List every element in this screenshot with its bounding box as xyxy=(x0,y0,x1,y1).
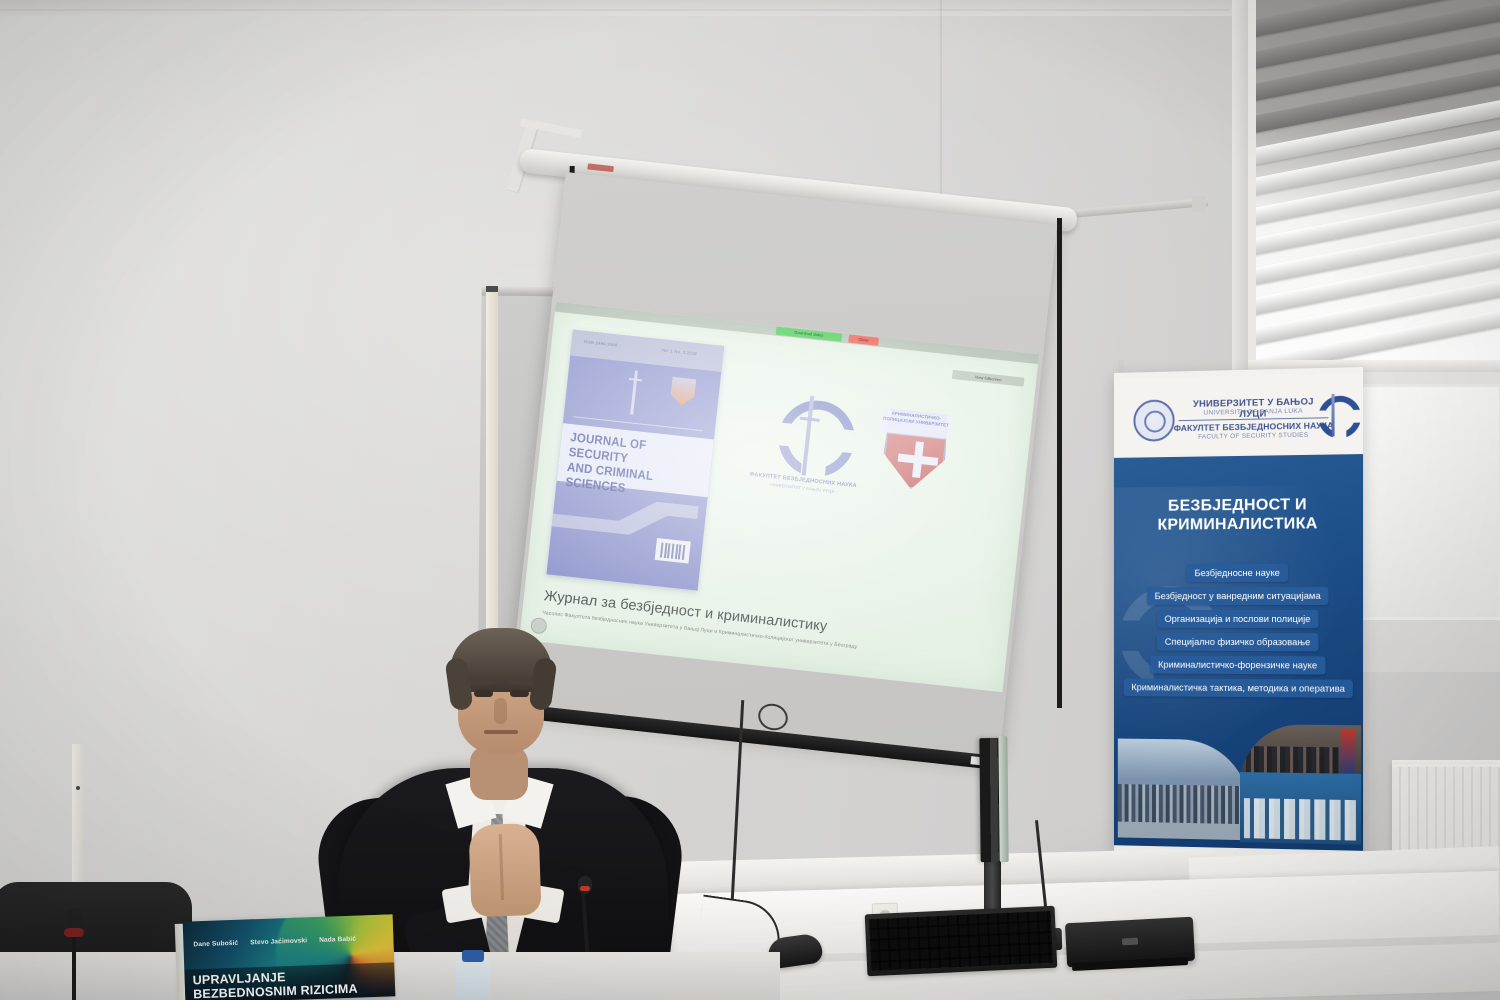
screen-bracket-right-end xyxy=(1192,196,1206,212)
whiteboard-post-cap xyxy=(486,286,498,292)
banner-photo-training xyxy=(1240,772,1361,845)
monitor-front-edge xyxy=(998,736,1008,862)
banner-faculty-logo-icon xyxy=(1314,393,1359,438)
displayed-book[interactable]: Dane Subošić Stevo Jaćimovski Nada Babić… xyxy=(183,914,396,1000)
wall-seam-horizontal xyxy=(0,9,1230,11)
book-title: UPRAVLJANJE BEZBEDNOSNIM RIZICIMA xyxy=(192,966,393,1000)
eye-left xyxy=(474,690,493,697)
window-frame-left xyxy=(1248,0,1256,372)
water-bottle[interactable] xyxy=(456,956,490,1000)
banner-program-item: Организација и послови полиције xyxy=(1157,610,1319,628)
wall-corner-post xyxy=(1232,0,1248,400)
neck xyxy=(470,746,528,800)
microphone-indicator-light xyxy=(580,886,590,891)
photo-scene: Download slides Close View fullscreen IS… xyxy=(0,0,1500,1000)
nose xyxy=(494,698,507,724)
banner-program-item: Криминалистичка тактика, методика и опер… xyxy=(1124,678,1354,698)
banner-program-item: Безбједност у ванредним ситуацијама xyxy=(1147,587,1329,605)
banner-program-item: Криминалистичко-форензичке науке xyxy=(1150,656,1325,675)
book-author: Dane Subošić xyxy=(193,940,238,949)
banner-photo-students xyxy=(1118,739,1250,841)
mouth xyxy=(484,730,518,734)
book-author: Nada Babić xyxy=(319,936,356,944)
microphone-front-base xyxy=(64,928,84,937)
keyboard[interactable] xyxy=(865,906,1058,977)
banner-body: БЕЗБЈЕДНОСТ И КРИМИНАЛИСТИКА Безбједносн… xyxy=(1114,454,1363,863)
whiteboard-post xyxy=(486,288,498,640)
housing-brand-label xyxy=(587,163,613,172)
screen-rail-right xyxy=(1057,218,1062,708)
wall-mounted-strip xyxy=(72,744,84,886)
university-seal-icon xyxy=(1133,399,1174,441)
banner-program-item: Безбједносне науке xyxy=(1187,564,1288,582)
clasped-hands xyxy=(468,823,541,917)
bottle-cap xyxy=(462,950,484,962)
banner-photo-collage xyxy=(1114,719,1363,863)
book-cover: Dane Subošić Stevo Jaćimovski Nada Babić… xyxy=(183,914,396,1000)
window-with-blinds xyxy=(1248,0,1500,372)
eye-right xyxy=(510,690,529,697)
microphone-front-stem xyxy=(72,934,76,1000)
banner-title: БЕЗБЈЕДНОСТ И КРИМИНАЛИСТИКА xyxy=(1114,495,1363,535)
banner-faculty-name-en: FACULTY OF SECURITY STUDIES xyxy=(1173,431,1335,441)
banner-program-list: Безбједносне науке Безбједност у ванредн… xyxy=(1114,563,1363,703)
banner-header: УНИВЕРЗИТЕТ У БАЊОЈ ЛУЦИ UNIVERSITY OF B… xyxy=(1114,373,1363,456)
microphone[interactable] xyxy=(578,876,592,894)
banner-program-item: Специјално физичко образовање xyxy=(1157,633,1318,651)
rollup-banner: УНИВЕРЗИТЕТ У БАЊОЈ ЛУЦИ UNIVERSITY OF B… xyxy=(1114,367,1363,863)
